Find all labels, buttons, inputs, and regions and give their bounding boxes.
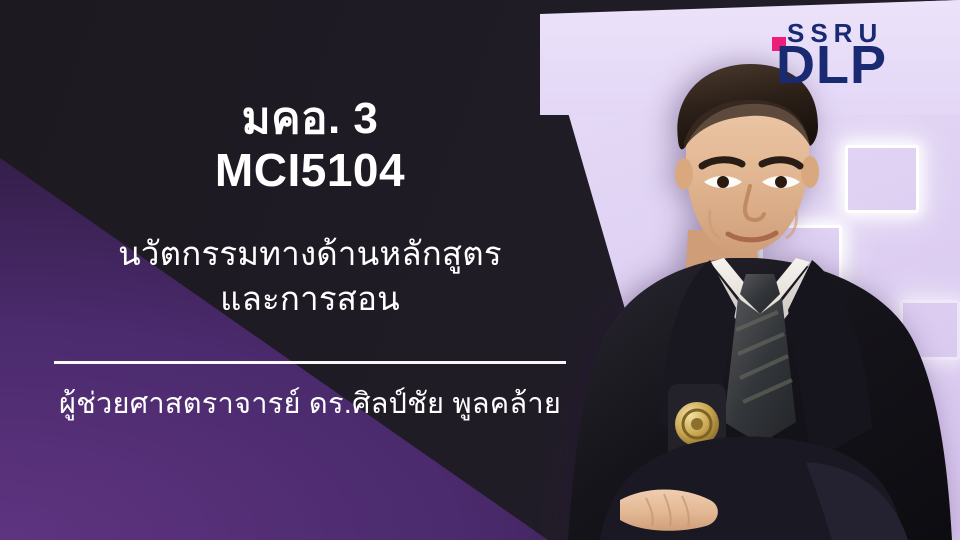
subject-title: นวัตกรรมทางด้านหลักสูตร และการสอน <box>118 232 502 320</box>
title-text-block: มคอ. 3 MCI5104 นวัตกรรมทางด้านหลักสูตร แ… <box>0 0 620 540</box>
title-slide: SSRU DLP มคอ. 3 MCI5104 นวัตกรรมทางด้านห… <box>0 0 960 540</box>
subject-line-2: และการสอน <box>118 277 502 321</box>
logo-dlp-text: DLP <box>776 38 887 92</box>
course-label-th: มคอ. 3 <box>242 96 379 142</box>
presenter-portrait <box>560 62 960 540</box>
subject-line-1: นวัตกรรมทางด้านหลักสูตร <box>118 232 502 276</box>
presenter-name: ผู้ช่วยศาสตราจารย์ ดร.ศิลป์ชัย พูลคล้าย <box>59 386 561 422</box>
ssru-dlp-logo: SSRU DLP <box>762 14 942 96</box>
divider-line <box>54 361 566 364</box>
course-code: MCI5104 <box>215 146 405 194</box>
